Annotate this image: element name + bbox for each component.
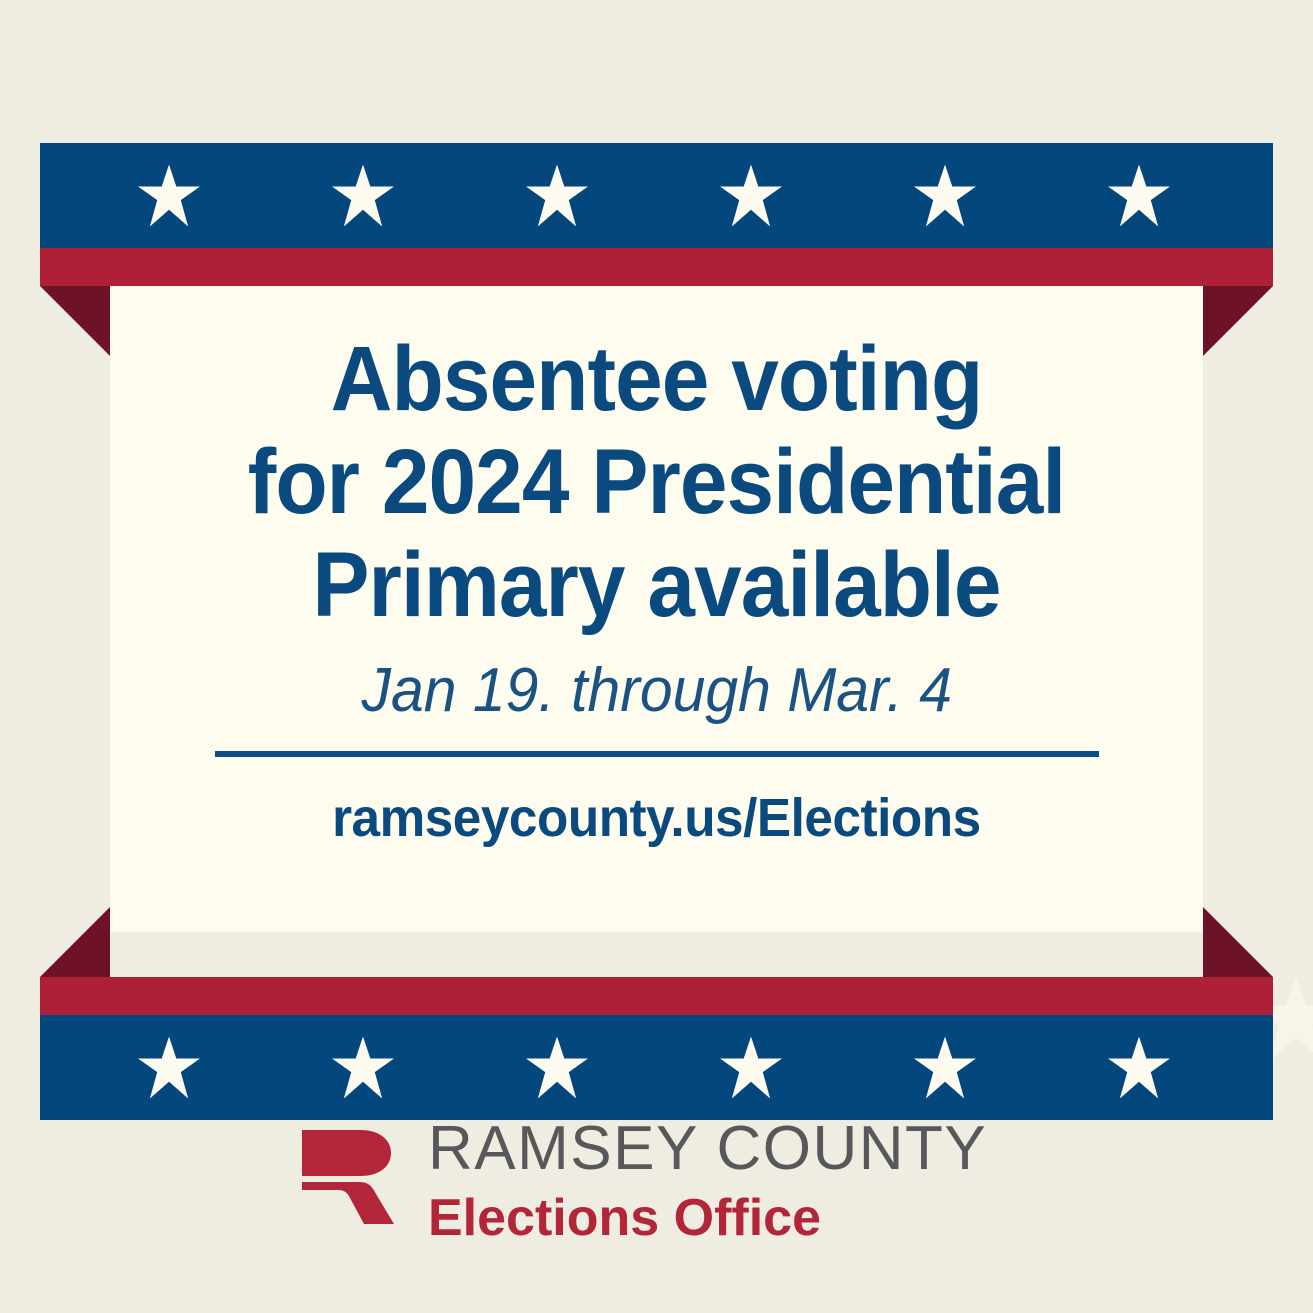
ribbon-fold-top-right	[1203, 286, 1273, 356]
divider	[215, 751, 1099, 757]
headline-line-3: Primary available	[248, 534, 1065, 637]
star-icon	[332, 1037, 394, 1099]
star-icon	[138, 1037, 200, 1099]
star-icon	[914, 1037, 976, 1099]
headline-line-1: Absentee voting	[248, 328, 1065, 431]
star-icon	[720, 1037, 782, 1099]
star-icon	[526, 165, 588, 227]
star-icon	[914, 165, 976, 227]
bottom-navy-band	[40, 1015, 1273, 1120]
headline-line-2: for 2024 Presidential	[248, 431, 1065, 534]
ribbon-fold-top-left	[40, 286, 110, 356]
star-icon	[720, 165, 782, 227]
bottom-red-band	[40, 977, 1273, 1015]
star-icon	[1108, 1037, 1170, 1099]
ramsey-county-r-mark-icon	[298, 1120, 406, 1228]
announcement-card: Absentee voting for 2024 Presidential Pr…	[110, 286, 1203, 932]
star-icon	[1108, 165, 1170, 227]
website-url[interactable]: ramseycounty.us/Elections	[332, 787, 981, 849]
top-banner	[40, 143, 1273, 286]
ribbon-fold-bottom-right	[1203, 907, 1273, 977]
logo-text-block: RAMSEY COUNTY Elections Office	[428, 1118, 987, 1244]
star-icon	[526, 1037, 588, 1099]
page-title: Absentee voting for 2024 Presidential Pr…	[229, 328, 1084, 637]
bottom-banner	[40, 977, 1273, 1120]
logo-county-name: RAMSEY COUNTY	[428, 1118, 987, 1180]
ramsey-county-elections-logo: RAMSEY COUNTY Elections Office	[298, 1118, 987, 1244]
star-icon	[332, 165, 394, 227]
top-stars-row	[40, 143, 1273, 248]
poster-canvas: Absentee voting for 2024 Presidential Pr…	[0, 0, 1313, 1313]
top-red-band	[40, 248, 1273, 286]
bottom-stars-row	[40, 1015, 1273, 1120]
logo-office-name: Elections Office	[428, 1192, 987, 1244]
star-icon	[138, 165, 200, 227]
top-navy-band	[40, 143, 1273, 248]
ribbon-fold-bottom-left	[40, 907, 110, 977]
date-range-subtitle: Jan 19. through Mar. 4	[361, 657, 951, 725]
